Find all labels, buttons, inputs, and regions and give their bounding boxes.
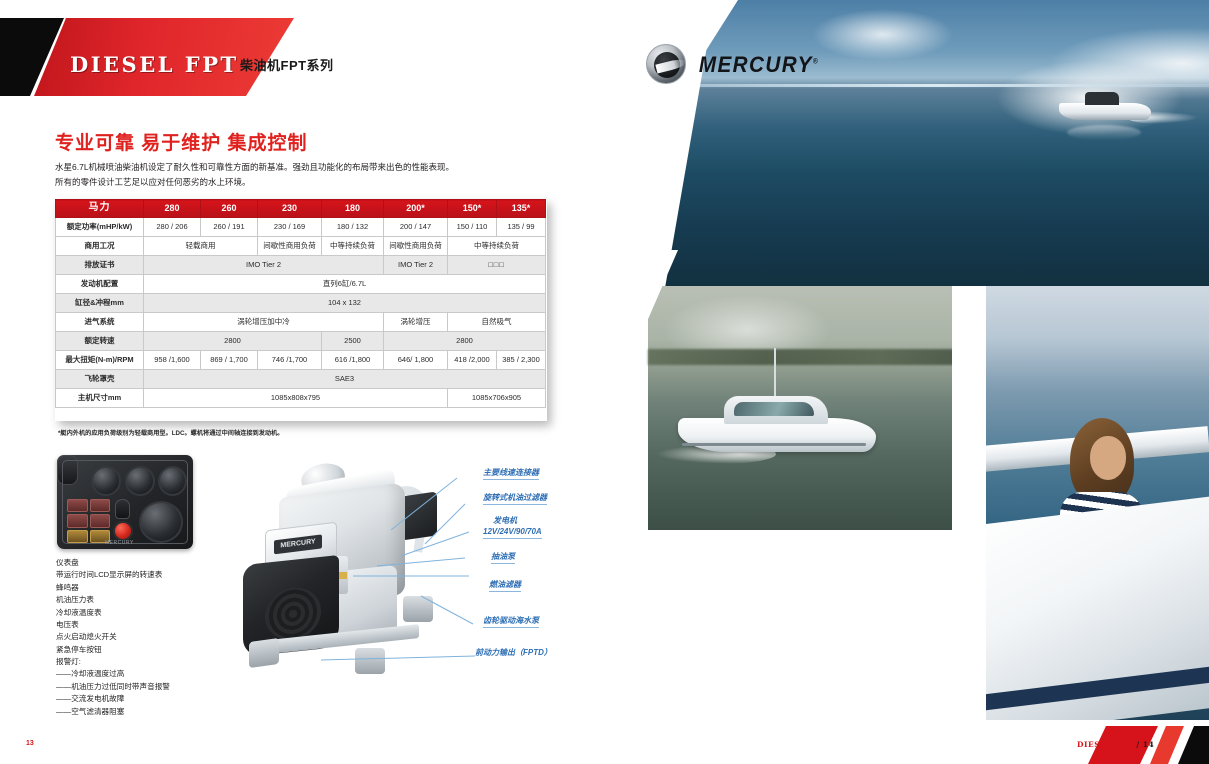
spec-table-row: 主机尺寸mm1085x808x7951085x706x905 <box>56 389 546 408</box>
spec-cell: 104 x 132 <box>144 294 546 313</box>
spec-cell: 间歇性商用负荷 <box>384 237 448 256</box>
alarm-lamp <box>67 514 88 527</box>
person-face <box>1090 436 1126 480</box>
photo-gutter <box>952 286 986 720</box>
alarm-lamp-grid <box>67 499 110 543</box>
spec-cell: 中等持续负荷 <box>322 237 384 256</box>
brochure-page: MERCURY® DIESEL FPT 柴油机FPT系列 专业可靠 易于维护 集… <box>0 0 1209 764</box>
page-number-right: 14 <box>1143 740 1154 749</box>
alarm-lamp <box>67 530 88 543</box>
spec-cell: IMO Tier 2 <box>144 256 384 275</box>
boat-canopy <box>1085 92 1119 105</box>
speedboat-graphic <box>1059 92 1151 126</box>
spec-table-row: 缸径&冲程mm104 x 132 <box>56 294 546 313</box>
engine-mount <box>249 638 279 668</box>
spec-cell: 涡轮增压 <box>384 313 448 332</box>
spec-cell: 418 /2,000 <box>448 351 497 370</box>
mercury-wordmark: MERCURY® <box>699 52 819 78</box>
spec-table-body: 额定功率(mHP/kW)280 / 206260 / 191230 / 1691… <box>56 218 546 408</box>
photo-cruiser-lake <box>648 286 978 530</box>
spec-cell: 150 / 110 <box>448 218 497 237</box>
voltmeter-gauge <box>139 501 183 543</box>
panel-brand-text: MERCURY <box>105 540 134 546</box>
spec-table-row: 额定转速280025002800 <box>56 332 546 351</box>
spec-cell: 自然吸气 <box>448 313 546 332</box>
spec-cell: 958 /1,600 <box>144 351 201 370</box>
callout-spin-on-oil-filter: 旋转式机油过滤器 <box>483 493 547 505</box>
spec-row-label: 额定转速 <box>56 332 144 351</box>
boat-reflection <box>1067 125 1141 140</box>
spec-cell: 轻载商用 <box>144 237 258 256</box>
spec-col-180: 180 <box>322 200 384 218</box>
spec-col-230: 230 <box>258 200 322 218</box>
header-banner-title: DIESEL FPT <box>70 52 239 77</box>
spec-cell: 中等持续负荷 <box>448 237 546 256</box>
engine-badge: MERCURY 260 <box>274 534 322 554</box>
boat-hull <box>1059 103 1151 120</box>
spec-col-260: 260 <box>201 200 258 218</box>
spec-cell: 746 /1,700 <box>258 351 322 370</box>
spec-cell: 135 / 99 <box>497 218 546 237</box>
spec-row-label: 发动机配置 <box>56 275 144 294</box>
spec-row-label: 进气系统 <box>56 313 144 332</box>
spec-row-label: 商用工况 <box>56 237 144 256</box>
spec-table-row: 排放证书IMO Tier 2IMO Tier 2□□□ <box>56 256 546 275</box>
spec-col-150: 150* <box>448 200 497 218</box>
alarm-lamp <box>90 499 111 512</box>
cruiser-graphic <box>678 394 876 468</box>
spec-cell: 直列6缸/6.7L <box>144 275 546 294</box>
spec-cell: SAE3 <box>144 370 546 389</box>
boat-mast <box>774 348 776 396</box>
header-banner-subtitle: 柴油机FPT系列 <box>240 55 334 74</box>
spec-cell: 230 / 169 <box>258 218 322 237</box>
spec-table-footnote: *艇内外机的应用负荷级别为轻载商用型。LDC。螺机将通过中间轴连接到发动机。 <box>58 428 528 437</box>
emergency-stop-button <box>113 521 133 541</box>
spec-cell: 616 /1,800 <box>322 351 384 370</box>
spec-cell: 涡轮增压加中冷 <box>144 313 384 332</box>
spec-table-row: 进气系统涡轮增压加中冷涡轮增压自然吸气 <box>56 313 546 332</box>
tachometer-gauge <box>91 466 121 496</box>
spec-cell: 646/ 1,800 <box>384 351 448 370</box>
section-title: 专业可靠 易于维护 集成控制 <box>55 128 308 155</box>
spec-row-label: 缸径&冲程mm <box>56 294 144 313</box>
engine-diagram: MERCURY 260 主要线速连接器 旋转式机油过滤器 发电机 12V/24V… <box>225 448 545 713</box>
mercury-wordmark-text: MERCURY <box>699 52 813 77</box>
spec-table-row: 额定功率(mHP/kW)280 / 206260 / 191230 / 1691… <box>56 218 546 237</box>
cruiser-stripe <box>682 443 866 446</box>
spec-cell: 180 / 132 <box>322 218 384 237</box>
spec-row-label: 飞轮罩壳 <box>56 370 144 389</box>
intro-line-2: 所有的零件设计工艺足以应对任何恶劣的水上环境。 <box>55 175 485 190</box>
spec-col-280: 280 <box>144 200 201 218</box>
spec-cell: 间歇性商用负荷 <box>258 237 322 256</box>
callout-alternator: 发电机 <box>493 516 517 526</box>
page-number-left: 13 <box>26 740 34 747</box>
spec-row-label: 最大扭矩(N-m)/RPM <box>56 351 144 370</box>
spec-table-row: 商用工况轻载商用间歇性商用负荷中等持续负荷间歇性商用负荷中等持续负荷 <box>56 237 546 256</box>
callout-gear-driven-seawater-pump: 齿轮驱动海水泵 <box>483 616 539 628</box>
spec-cell: 385 / 2,300 <box>497 351 546 370</box>
spec-table-corner-label: 马力 <box>56 200 144 218</box>
section-intro: 水星6.7L机械喷油柴油机设定了耐久性和可靠性方面的新基准。强劲且功能化的布局带… <box>55 160 485 190</box>
intro-line-1: 水星6.7L机械喷油柴油机设定了耐久性和可靠性方面的新基准。强劲且功能化的布局带… <box>55 160 485 175</box>
alarm-lamp <box>67 499 88 512</box>
footer-separator: / <box>1136 740 1139 749</box>
callout-front-power-takeoff: 前动力输出（FPTD） <box>475 648 552 658</box>
spec-cell: 869 / 1,700 <box>201 351 258 370</box>
callout-alternator-rating: 12V/24V/90/70A <box>483 527 542 539</box>
spec-table-head: 马力 280 260 230 180 200* 150* 135* <box>56 200 546 218</box>
cruiser-windshield <box>734 402 814 416</box>
spec-row-label: 额定功率(mHP/kW) <box>56 218 144 237</box>
footer-section-name: DIESEL FPT <box>1077 740 1133 749</box>
alarm-lamp <box>90 514 111 527</box>
spec-cell: 280 / 206 <box>144 218 201 237</box>
ignition-key-switch-icon <box>115 499 130 519</box>
spec-col-200: 200* <box>384 200 448 218</box>
spec-cell: 1085x706x905 <box>448 389 546 408</box>
spec-cell: 2800 <box>144 332 322 351</box>
spec-cell: IMO Tier 2 <box>384 256 448 275</box>
footer-page-label: DIESEL FPT / 14 <box>1077 740 1154 749</box>
engine-mount <box>355 648 385 674</box>
engine-dark-module <box>401 491 437 540</box>
spec-row-label: 主机尺寸mm <box>56 389 144 408</box>
callout-fuel-filter: 燃油滤器 <box>489 580 521 592</box>
spec-table-row: 飞轮罩壳SAE3 <box>56 370 546 389</box>
spec-table-header-row: 马力 280 260 230 180 200* 150* 135* <box>56 200 546 218</box>
spec-cell: 1085x808x795 <box>144 389 448 408</box>
spec-cell: 260 / 191 <box>201 218 258 237</box>
oil-pressure-gauge <box>125 466 155 496</box>
hero-image-group <box>548 0 1209 720</box>
instrument-panel-photo: MERCURY <box>57 455 193 549</box>
spec-table-row: 发动机配置直列6缸/6.7L <box>56 275 546 294</box>
spec-cell: 2500 <box>322 332 384 351</box>
coolant-temp-gauge <box>158 466 187 496</box>
spec-cell: 200 / 147 <box>384 218 448 237</box>
spec-cell: □□□ <box>448 256 546 275</box>
spec-row-label: 排放证书 <box>56 256 144 275</box>
mercury-waterdrop-badge-icon <box>646 44 686 84</box>
treeline <box>648 349 978 365</box>
mercury-logo: MERCURY® <box>646 44 814 86</box>
callout-main-harness-connector: 主要线速连接器 <box>483 468 539 480</box>
engine-illustration: MERCURY 260 <box>243 472 457 662</box>
spec-table-row: 最大扭矩(N-m)/RPM958 /1,600869 / 1,700746 /1… <box>56 351 546 370</box>
spec-table: 马力 280 260 230 180 200* 150* 135* 额定功率(m… <box>55 199 546 408</box>
engine-mount <box>403 596 433 622</box>
registered-mark: ® <box>813 59 819 66</box>
callout-oil-extraction-pump: 抽油泵 <box>491 552 515 564</box>
photo-woman-on-deck <box>982 286 1209 720</box>
footer-black-wedge <box>1178 726 1209 764</box>
spec-col-135: 135* <box>497 200 546 218</box>
spec-cell: 2800 <box>384 332 546 351</box>
